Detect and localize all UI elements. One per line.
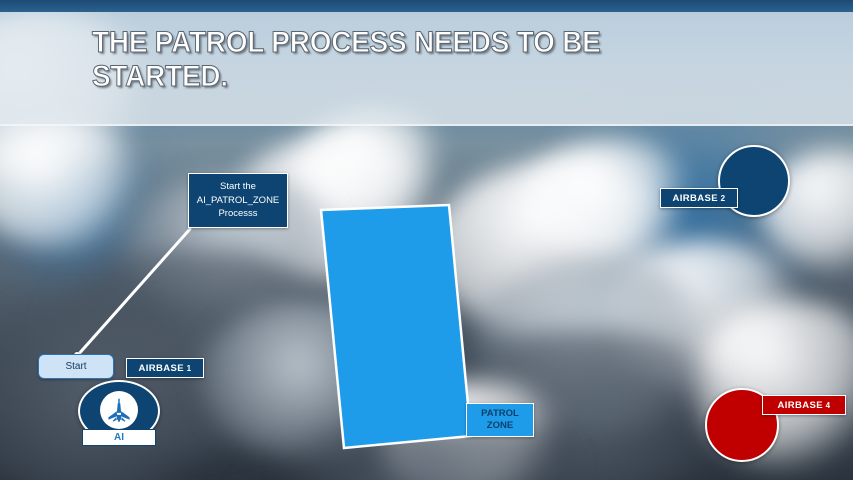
airbase-1-number: 1 [187,364,192,373]
process-box-line1: Start the [197,180,280,194]
airbase-2-label-text: AIRBASE [672,193,718,204]
patrol-zone-label-line2: ZONE [487,420,513,432]
process-box-line2: AI_PATROL_ZONE [197,194,280,208]
airbase-4-label-text: AIRBASE [777,400,823,411]
process-box[interactable]: Start the AI_PATROL_ZONE Processs [188,173,288,228]
slide-canvas: THE PATROL PROCESS NEEDS TO BE STARTED. … [0,0,853,480]
airbase-2-label[interactable]: AIRBASE 2 [660,188,738,208]
top-accent-strip [0,0,853,12]
ai-node-label: AI [82,429,156,446]
title-band-underline [0,124,853,126]
fighter-jet-icon [100,391,138,429]
patrol-zone-label[interactable]: PATROL ZONE [466,403,534,437]
airbase-4-label[interactable]: AIRBASE 4 [762,395,846,415]
start-button[interactable]: Start [38,354,114,379]
page-title: THE PATROL PROCESS NEEDS TO BE STARTED. [92,26,734,94]
airbase-1-label[interactable]: AIRBASE 1 [126,358,204,378]
airbase-4-number: 4 [826,401,831,410]
airbase-2-number: 2 [721,194,726,203]
process-box-line3: Processs [197,207,280,221]
patrol-zone-label-line1: PATROL [481,408,519,420]
airbase-1-label-text: AIRBASE [138,363,184,374]
